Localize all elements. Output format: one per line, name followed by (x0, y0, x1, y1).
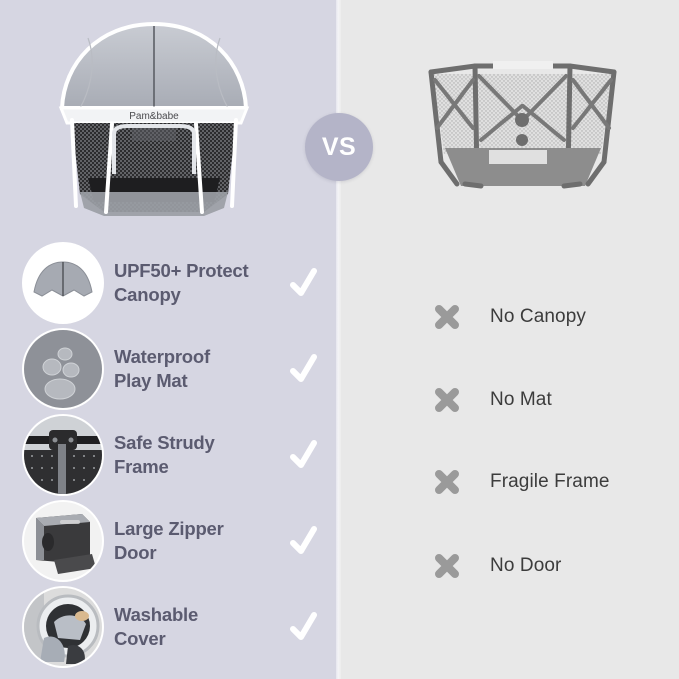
comparison-infographic: Pam&babe (0, 0, 679, 679)
vs-label: VS (322, 133, 356, 162)
feature-label: Safe Strudy Frame (114, 431, 264, 479)
check-icon (288, 524, 318, 558)
feature-label: UPF50+ Protect Canopy (114, 259, 264, 307)
feature-label: Waterproof Play Mat (114, 345, 264, 393)
x-icon (432, 302, 462, 332)
zipper-door-thumb (24, 502, 102, 580)
negative-label: No Door (490, 555, 561, 577)
competitor-image (415, 36, 630, 221)
canopy-thumb (24, 244, 102, 322)
check-icon (288, 438, 318, 472)
x-icon (432, 467, 462, 497)
feature-label: Large Zipper Door (114, 517, 264, 565)
check-icon (288, 352, 318, 386)
washing-machine-thumb (24, 588, 102, 666)
negative-row-no-canopy: No Canopy (432, 297, 586, 337)
negative-row-no-door: No Door (432, 546, 561, 586)
negative-label: No Mat (490, 389, 552, 411)
feature-label: Washable Cover (114, 603, 264, 651)
negative-row-fragile-frame: Fragile Frame (432, 462, 610, 502)
check-icon (288, 610, 318, 644)
feature-row-frame: Safe Strudy Frame (24, 413, 314, 497)
panel-divider (336, 0, 341, 679)
frame-joint-thumb (24, 416, 102, 494)
feature-row-canopy: UPF50+ Protect Canopy (24, 241, 314, 325)
check-icon (288, 266, 318, 300)
vs-badge: VS (305, 113, 373, 181)
negative-row-no-mat: No Mat (432, 380, 552, 420)
feature-row-play-mat: Waterproof Play Mat (24, 327, 314, 411)
x-icon (432, 551, 462, 581)
play-mat-thumb (24, 330, 102, 408)
brand-logo-text: Pam&babe (129, 111, 179, 122)
feature-row-zipper-door: Large Zipper Door (24, 499, 314, 583)
negative-label: No Canopy (490, 306, 586, 328)
negative-label: Fragile Frame (490, 471, 610, 493)
x-icon (432, 385, 462, 415)
product-image: Pam&babe (28, 16, 280, 228)
feature-row-washable-cover: Washable Cover (24, 585, 314, 669)
